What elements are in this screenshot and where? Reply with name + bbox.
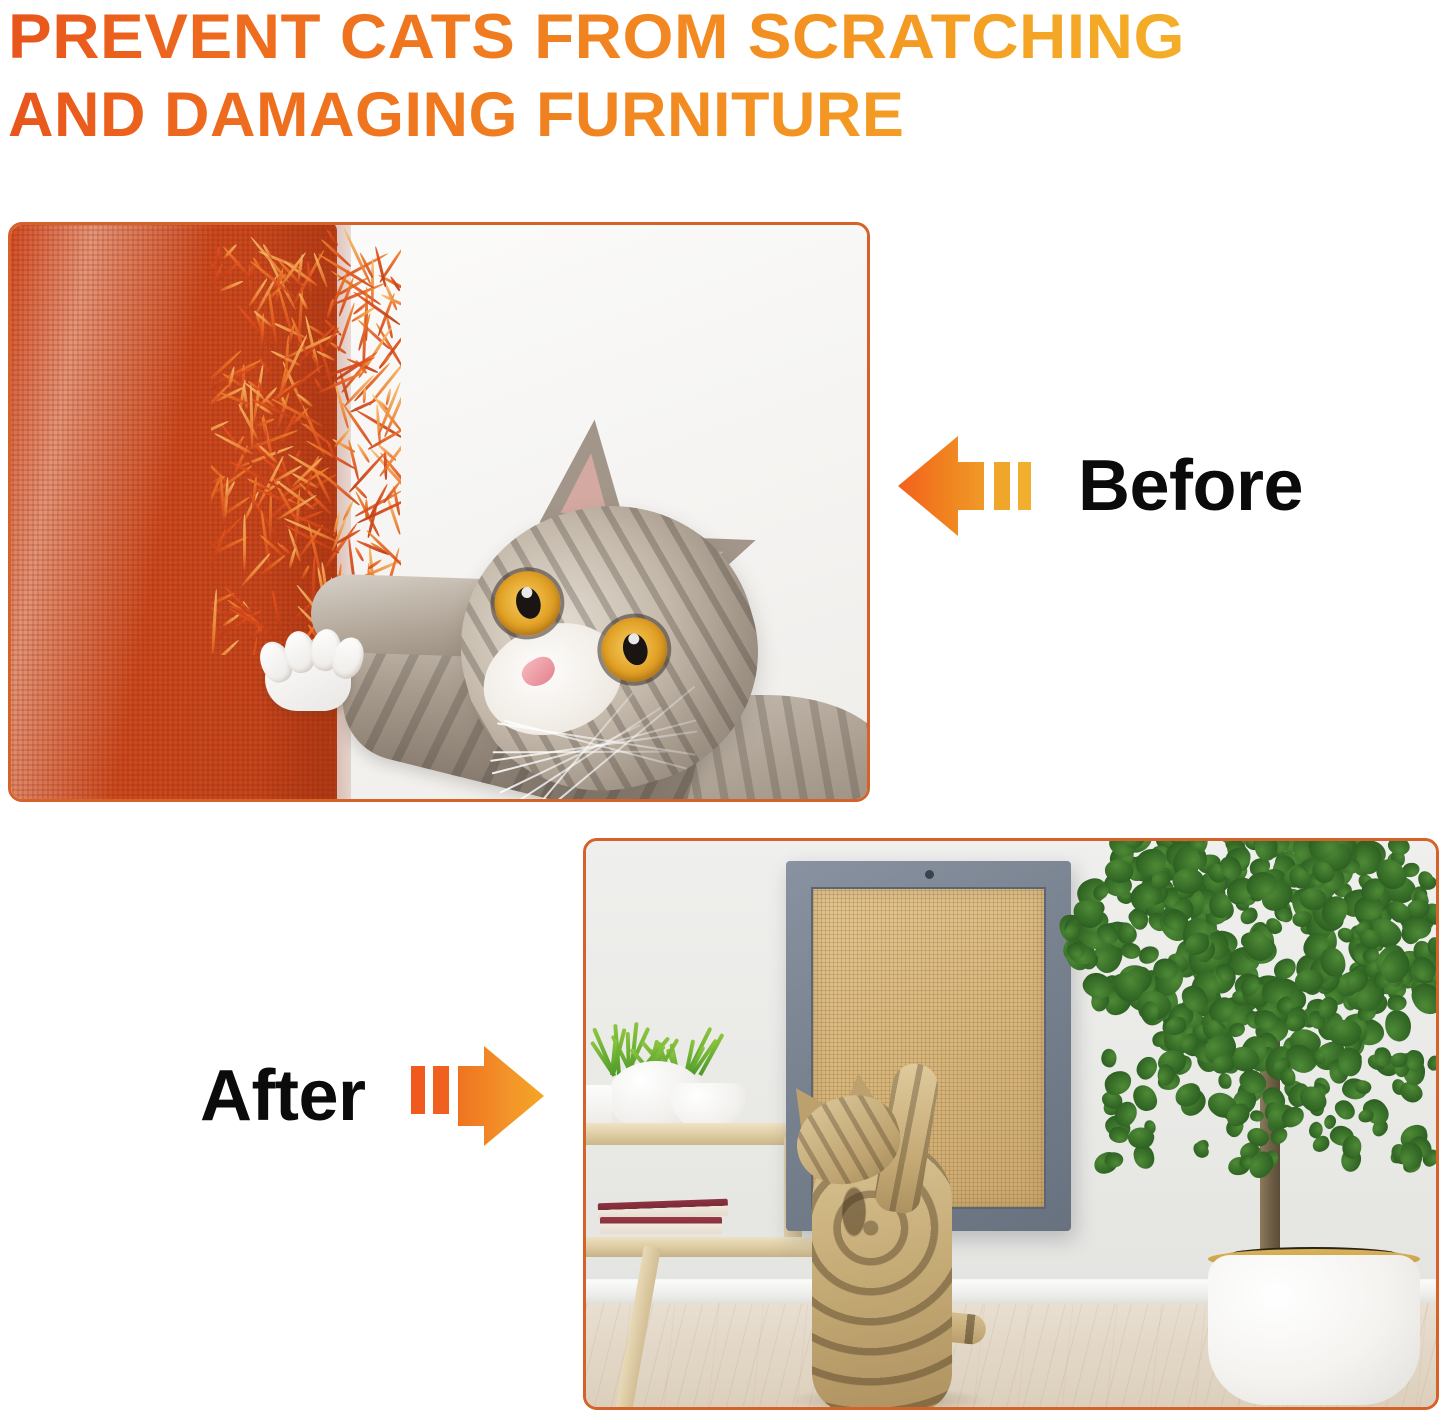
table-lower-shelf: [586, 1237, 814, 1257]
table-leg: [614, 1246, 661, 1407]
arrow-left-icon: [896, 432, 1036, 540]
table-top-shelf: [586, 1123, 814, 1145]
before-scene: [11, 225, 867, 799]
book: [600, 1217, 722, 1234]
after-label: After: [200, 1060, 366, 1132]
white-pot: [1208, 1255, 1420, 1405]
ficus-tree: [1062, 841, 1436, 1407]
side-table: [586, 1041, 816, 1407]
headline-line-2: AND DAMAGING FURNITURE: [8, 76, 1438, 154]
before-photo: [8, 222, 870, 802]
before-label: Before: [1078, 450, 1303, 522]
cat-paw-scratching: [259, 623, 379, 727]
mount-screw: [925, 870, 934, 879]
after-scene: [586, 841, 1436, 1407]
tree-canopy: [1032, 841, 1436, 1115]
headline-line-1: PREVENT CATS FROM SCRATCHING: [8, 0, 1445, 76]
arrow-right-icon: [406, 1042, 546, 1150]
after-marker: After: [200, 1042, 546, 1150]
bengal-cat: [784, 1011, 994, 1407]
before-marker: Before: [896, 432, 1303, 540]
headline: PREVENT CATS FROM SCRATCHING AND DAMAGIN…: [8, 0, 1438, 154]
after-photo: [583, 838, 1439, 1410]
stacked-books: [598, 1201, 728, 1239]
